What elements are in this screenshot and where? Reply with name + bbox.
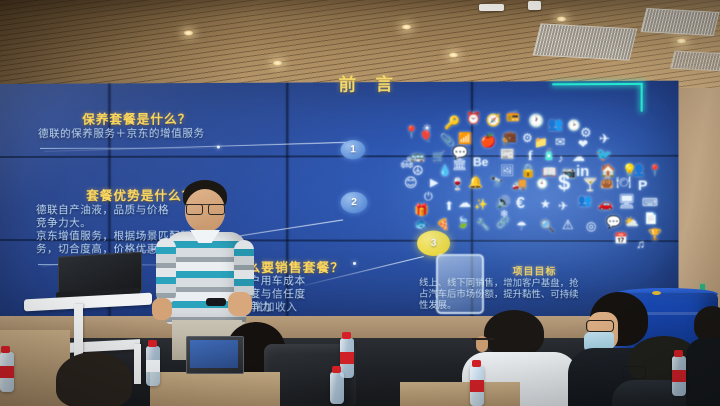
news-icon: 📰 [500, 148, 515, 160]
slide-title: 前 言 [339, 70, 401, 96]
bottle-cap [332, 366, 341, 373]
smile-icon: 😊 [404, 176, 418, 189]
front-table [150, 372, 280, 406]
music-icon: ♪ [558, 154, 564, 165]
ceiling-air-vent [640, 8, 719, 36]
speaker-icon: 🔊 [496, 196, 511, 208]
clock24-icon: 🕙 [536, 180, 548, 190]
audience-hair [484, 310, 544, 356]
presenter-remote [206, 298, 226, 306]
wine-icon: 🍷 [450, 178, 465, 190]
sparkle-icon: ✨ [474, 200, 488, 211]
contacts-icon: 👥 [578, 196, 592, 207]
clock-icon: 🕐 [528, 114, 544, 127]
step-number-1: 1 [341, 140, 366, 159]
cart-icon: 🛒 [432, 152, 446, 163]
snow-icon: ❄ [500, 210, 508, 220]
document-icon: 📄 [644, 214, 658, 225]
twitter-icon: 🐦 [596, 148, 612, 161]
ceiling-air-vent [533, 23, 638, 60]
presentation-room-photo: 前 言 保养套餐是什么？ 德联的保养服务＋京东的增值服务 套餐优势是什么？ 德联… [0, 0, 720, 406]
fish-icon: 🐟 [414, 218, 429, 230]
alarm-icon: ⏰ [466, 112, 481, 124]
keyboard-icon: ⌨ [642, 198, 658, 209]
bottle-cap [674, 350, 683, 357]
presenter-glasses-lens [186, 204, 203, 215]
bottle-cap [148, 340, 157, 347]
presenter-hand-right [228, 292, 252, 316]
truck-icon: 🚚 [512, 178, 527, 190]
bottle-cap [342, 332, 351, 339]
icon-cloud-speech-bubble: 🔑 ⏰ 🧭 📻 🕐 👥 🕑 ☀ 📎 📶 🍎 💼 🏃 ⚙ 📁 ✉ ❤ ⚙ ✈ 🎈 … [400, 108, 665, 283]
parking-icon: P [638, 178, 647, 192]
cocktail-icon: 🍸 [582, 178, 598, 191]
bottle-label [0, 366, 14, 378]
cloud-icon: ☁ [572, 150, 585, 163]
desktop-monitor-screen [190, 340, 238, 368]
front-table-right [400, 382, 520, 406]
downlight-icon [676, 38, 687, 44]
behance-icon: Be [473, 156, 488, 168]
search-icon: 🔍 [540, 220, 555, 232]
cloud2-icon: ☁ [458, 196, 471, 209]
cloudy-icon: ⛅ [624, 216, 639, 228]
calendar-icon: 📅 [614, 234, 628, 245]
euro-icon: € [516, 196, 525, 212]
gift-icon: 🎁 [414, 204, 429, 216]
telescope-icon: 🔭 [490, 178, 504, 189]
led-edge-strip [552, 83, 642, 85]
ceiling-sensor [528, 1, 541, 10]
plane-icon: ✈ [599, 132, 610, 145]
wifi-icon: 📶 [458, 134, 472, 145]
tablet-device-graphic [436, 254, 484, 314]
map-pin-icon: 📍 [648, 166, 662, 177]
presenter-arm-left [156, 238, 176, 304]
gear-icon: ⚙ [522, 132, 533, 144]
audience-glasses [622, 366, 646, 379]
lock-icon: 🔒 [520, 164, 536, 177]
audience-shoulders [686, 338, 720, 406]
step-number-2: 2 [341, 192, 368, 213]
bottle-icon: 🧴 [542, 150, 556, 161]
people-icon: 👥 [548, 118, 563, 130]
pizza-icon: 🍕 [436, 220, 450, 231]
target-icon: ◎ [586, 220, 596, 232]
bottle-label [470, 380, 484, 392]
user-badge-icon: 👤 [632, 166, 646, 177]
audience-hair [694, 306, 720, 342]
pin-icon: 📍 [404, 126, 419, 138]
umbrella-icon: ☂ [516, 220, 527, 232]
section-2-body-line-2: 竞争力大。 [36, 217, 91, 230]
downlight-icon [272, 60, 283, 66]
bottle-label [672, 370, 686, 382]
compass-icon: 🧭 [486, 114, 501, 126]
facebook-icon: f [528, 150, 533, 164]
ceiling-projector-mount [479, 4, 504, 11]
bottle-cap [1, 346, 10, 353]
play-icon: ▶ [430, 178, 438, 189]
mail-icon: ✉ [555, 136, 565, 148]
section-1-heading: 保养套餐是什么？ [82, 108, 191, 127]
audience-member-front-center [46, 352, 150, 406]
presenter-glasses-lens [208, 204, 225, 215]
connector-endpoint-dot [353, 262, 356, 265]
downlight-icon [183, 30, 194, 36]
trophy-icon: 🏆 [648, 230, 662, 241]
bottle-label [340, 352, 354, 364]
music2-icon: ♫ [636, 238, 645, 250]
ceiling-air-vent [670, 51, 720, 72]
power-icon: ⏻ [424, 192, 433, 203]
star-icon: ★ [540, 198, 551, 210]
book-icon: 📖 [542, 166, 557, 178]
section-1-body: 德联的保养服务＋京东的增值服务 [38, 127, 205, 141]
lectern-top [24, 293, 152, 312]
presenter-hand-left [152, 298, 172, 320]
balloon-icon: 🎈 [419, 132, 433, 143]
wrench-icon: 🔧 [476, 220, 490, 231]
leaf-icon: 🍃 [456, 218, 470, 229]
gear2-icon: ⚙ [580, 126, 592, 139]
dining-icon: 🍽 [616, 176, 631, 188]
radio-icon: 📻 [506, 111, 520, 122]
audience-member-far-right [694, 306, 720, 406]
sofa-icon: 🛋 [400, 158, 414, 169]
photo-icon: 🖼 [500, 166, 514, 177]
clock2-icon: 🕑 [567, 121, 581, 132]
droplet-icon: 💧 [438, 166, 452, 177]
paperplane-icon: ✈ [558, 200, 568, 212]
downlight-icon [556, 16, 567, 22]
upload-icon: ⬆ [444, 200, 454, 212]
bottle-cap [472, 360, 481, 367]
connector-endpoint-dot [217, 145, 220, 148]
bottle-label [146, 360, 160, 372]
monitor-icon: 🖥 [618, 194, 636, 208]
car-icon: 🚗 [598, 198, 613, 210]
bell-icon: 🔔 [468, 176, 483, 188]
dollar-icon: $ [558, 172, 570, 194]
downlight-icon [448, 52, 459, 58]
bag-icon: 👜 [600, 178, 614, 189]
audience-hair [56, 352, 132, 406]
water-bottle [330, 372, 344, 404]
key-icon: 🔑 [444, 116, 460, 129]
audience-glasses [586, 320, 614, 332]
warning-icon: ⚠ [562, 218, 574, 231]
audience-glasses-arm [472, 338, 494, 340]
downlight-icon [401, 24, 412, 30]
apple-icon: 🍎 [480, 134, 496, 147]
folder-icon: 📁 [534, 138, 548, 149]
speech-icon: 💬 [606, 216, 621, 228]
bank-icon: 🏛 [452, 158, 467, 170]
home-icon: 🏠 [600, 164, 616, 177]
